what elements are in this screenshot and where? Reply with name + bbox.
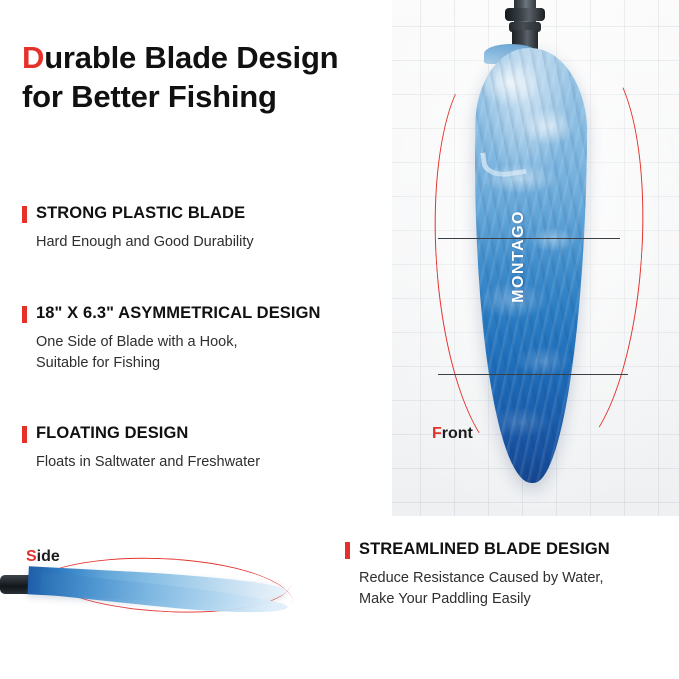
feature-2-description-line-2: Suitable for Fishing (36, 353, 384, 374)
shaft-collar-upper (505, 8, 545, 21)
feature-floating-design: FLOATING DESIGN Floats in Saltwater and … (22, 424, 384, 473)
feature-streamlined-blade-design: STREAMLINED BLADE DESIGN Reduce Resistan… (345, 540, 669, 610)
measurement-line-upper (438, 238, 620, 239)
feature-4-description-line-1: Reduce Resistance Caused by Water, (359, 568, 669, 589)
headline-initial: D (22, 40, 44, 75)
paddle-blade (472, 48, 588, 484)
feature-3-description: Floats in Saltwater and Freshwater (36, 452, 384, 473)
headline-line2: for Better Fishing (22, 79, 277, 114)
feature-4-description: Reduce Resistance Caused by Water, Make … (359, 568, 669, 610)
feature-2-description: One Side of Blade with a Hook, Suitable … (36, 332, 384, 374)
feature-1-title: STRONG PLASTIC BLADE (36, 204, 245, 223)
bullet-bar-icon (345, 542, 350, 559)
brand-logo-text: MONTAGO (510, 210, 528, 303)
feature-2-description-line-1: One Side of Blade with a Hook, (36, 332, 384, 353)
front-label-initial: F (432, 425, 442, 442)
feature-2-title: 18" X 6.3" ASYMMETRICAL DESIGN (36, 304, 321, 323)
feature-4-title: STREAMLINED BLADE DESIGN (359, 540, 610, 559)
feature-4-description-line-2: Make Your Paddling Easily (359, 589, 669, 610)
measurement-line-lower (438, 374, 628, 375)
feature-asymmetrical-design: 18" X 6.3" ASYMMETRICAL DESIGN One Side … (22, 304, 384, 374)
bullet-bar-icon (22, 206, 27, 223)
bullet-bar-icon (22, 426, 27, 443)
blade-side-photo (0, 555, 330, 635)
feature-3-title: FLOATING DESIGN (36, 424, 188, 443)
feature-4-title-row: STREAMLINED BLADE DESIGN (345, 540, 669, 559)
feature-strong-plastic-blade: STRONG PLASTIC BLADE Hard Enough and Goo… (22, 204, 384, 253)
bullet-bar-icon (22, 306, 27, 323)
page-title: Durable Blade Design for Better Fishing (22, 38, 390, 116)
feature-2-title-row: 18" X 6.3" ASYMMETRICAL DESIGN (22, 304, 384, 323)
front-view-label: Front (432, 425, 473, 443)
feature-1-title-row: STRONG PLASTIC BLADE (22, 204, 384, 223)
feature-1-description: Hard Enough and Good Durability (36, 232, 384, 253)
headline-line1: urable Blade Design (44, 40, 338, 75)
blade-front-photo: MONTAGO Front (392, 0, 679, 516)
front-label-rest: ront (442, 425, 473, 442)
product-feature-graphic: MONTAGO Front Durable Blade Design for B… (0, 0, 679, 679)
feature-3-title-row: FLOATING DESIGN (22, 424, 384, 443)
